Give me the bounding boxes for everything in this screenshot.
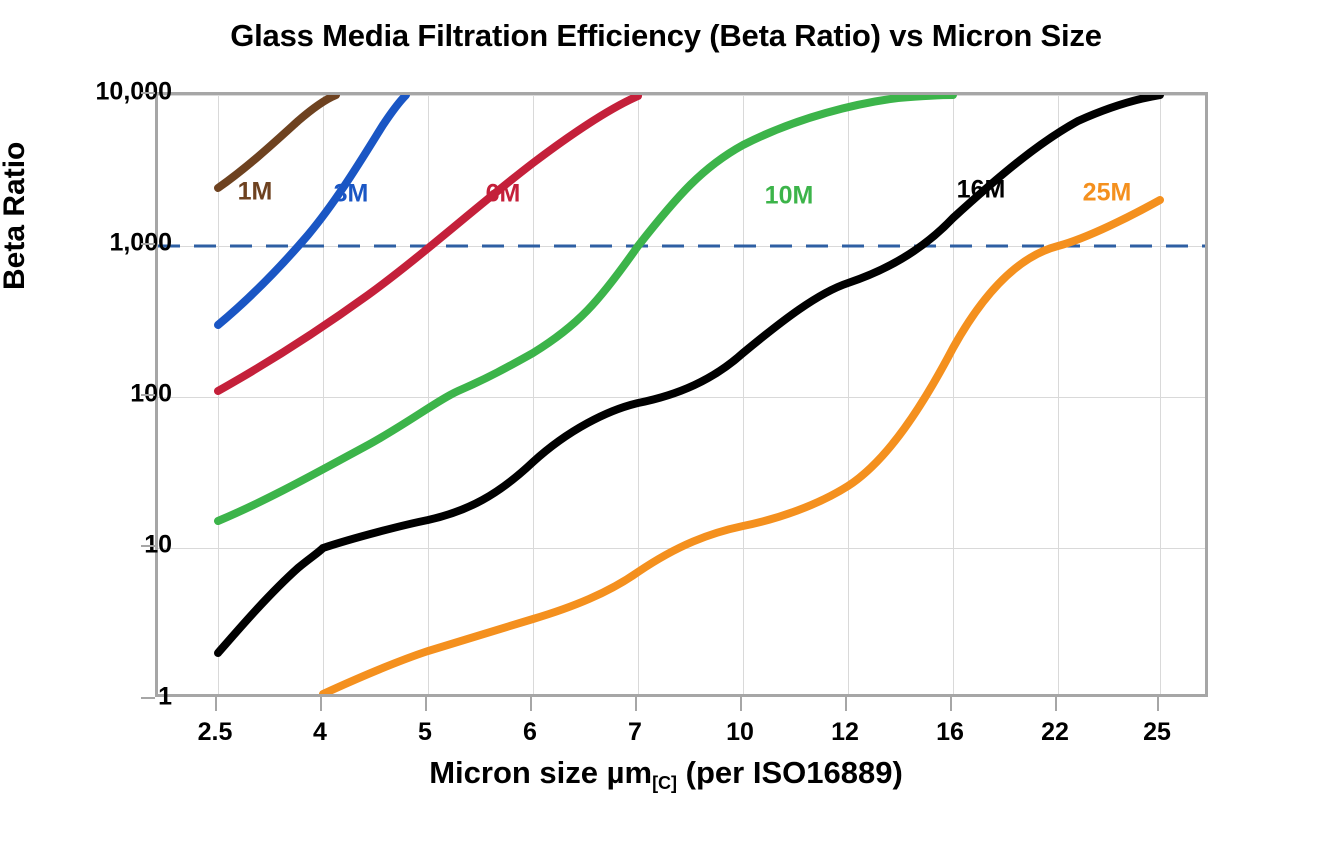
xtick-mark-12 xyxy=(845,697,847,711)
series-label-3m: 3M xyxy=(334,180,369,209)
ytick-mark-1 xyxy=(141,697,155,699)
y-axis-title: Beta Ratio xyxy=(0,142,32,290)
series-label-6m: 6M xyxy=(486,180,521,209)
chart-title: Glass Media Filtration Efficiency (Beta … xyxy=(0,18,1332,54)
xtick-label-10: 10 xyxy=(726,718,754,747)
series-label-10m: 10M xyxy=(765,182,814,211)
xtick-mark-22 xyxy=(1055,697,1057,711)
xtick-label-22: 22 xyxy=(1041,718,1069,747)
xtick-mark-6 xyxy=(530,697,532,711)
xtick-mark-16 xyxy=(950,697,952,711)
xtick-mark-10 xyxy=(740,697,742,711)
series-label-16m: 16M xyxy=(957,176,1006,205)
series-line-1m xyxy=(218,95,336,188)
ytick-mark-10 xyxy=(141,545,155,547)
series-curves xyxy=(158,95,1205,694)
x-axis-title: Micron size µm[C] (per ISO16889) xyxy=(0,755,1332,791)
xtick-label-16: 16 xyxy=(936,718,964,747)
ytick-mark-1000 xyxy=(141,243,155,245)
xtick-mark-5 xyxy=(425,697,427,711)
chart-figure: Glass Media Filtration Efficiency (Beta … xyxy=(0,0,1332,842)
ytick-mark-100 xyxy=(141,394,155,396)
xtick-mark-7 xyxy=(635,697,637,711)
xtick-label-25: 25 xyxy=(1143,718,1171,747)
series-line-10m xyxy=(218,95,953,521)
x-axis-title-subscript: [C] xyxy=(652,773,677,793)
xtick-mark-2.5 xyxy=(215,697,217,711)
series-label-25m: 25M xyxy=(1083,179,1132,208)
ytick-mark-10000 xyxy=(141,92,155,94)
xtick-label-4: 4 xyxy=(313,718,327,747)
xtick-label-12: 12 xyxy=(831,718,859,747)
series-line-25m xyxy=(323,200,1160,694)
xtick-label-5: 5 xyxy=(418,718,432,747)
x-axis-title-main: Micron size µm xyxy=(429,755,652,790)
ytick-label-10000: 10,000 xyxy=(96,78,172,107)
xtick-mark-25 xyxy=(1157,697,1159,711)
series-label-1m: 1M xyxy=(238,178,273,207)
xtick-label-7: 7 xyxy=(628,718,642,747)
xtick-label-2.5: 2.5 xyxy=(198,718,233,747)
plot-area xyxy=(155,92,1208,697)
xtick-mark-4 xyxy=(320,697,322,711)
x-axis-title-tail: (per ISO16889) xyxy=(677,755,903,790)
xtick-label-6: 6 xyxy=(523,718,537,747)
ytick-label-1: 1 xyxy=(158,683,172,712)
